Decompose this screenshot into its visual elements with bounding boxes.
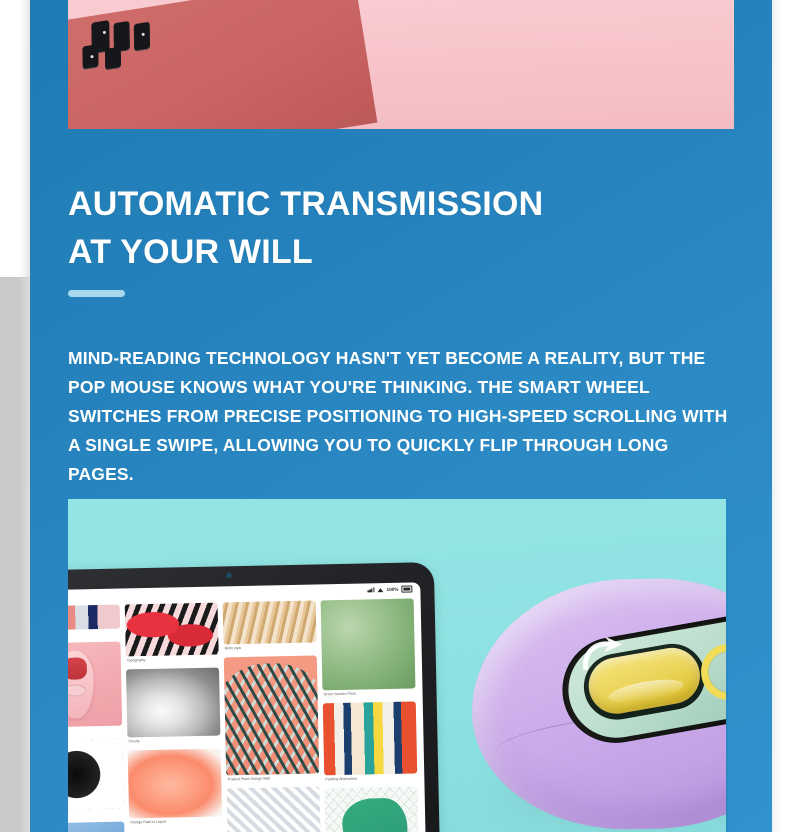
- moodboard-thumbnail[interactable]: [323, 701, 417, 775]
- moodboard-thumbnail[interactable]: [128, 749, 222, 819]
- page-title: AUTOMATIC TRANSMISSION AT YOUR WILL: [68, 180, 728, 276]
- moodboard-thumbnail[interactable]: [126, 668, 220, 738]
- pop-mouse-emoji-button[interactable]: [697, 639, 728, 704]
- moodboard-item[interactable]: Painting Abstraction: [323, 701, 418, 784]
- tablet-device: 100% PatternPink MouseGraphic FacadeTypo…: [68, 562, 440, 832]
- moodboard-grid: PatternPink MouseGraphic FacadeTypograph…: [68, 594, 422, 832]
- right-margin: [772, 0, 790, 832]
- battery-icon: [401, 585, 412, 592]
- front-camera-icon: [227, 573, 231, 577]
- moodboard-column: TypographyCloudsOrange Paint in Liquid: [125, 603, 224, 832]
- product-detail-page: AUTOMATIC TRANSMISSION AT YOUR WILL MIND…: [0, 0, 790, 832]
- left-gutter: [0, 0, 30, 832]
- moodboard-item[interactable]: Green Garden Plant: [321, 598, 416, 699]
- bottom-product-photo: 100% PatternPink MouseGraphic FacadeTypo…: [68, 499, 728, 832]
- moodboard-item[interactable]: Typography: [125, 603, 219, 666]
- blue-content-panel: AUTOMATIC TRANSMISSION AT YOUR WILL MIND…: [30, 0, 772, 832]
- moodboard-item[interactable]: Pattern: [68, 605, 120, 640]
- status-bar: 100%: [368, 585, 413, 592]
- moodboard-thumbnail[interactable]: [325, 786, 420, 832]
- top-product-photo: [68, 0, 734, 129]
- moodboard-thumbnail[interactable]: [227, 786, 321, 832]
- moodboard-item[interactable]: Graphic Facade: [68, 739, 124, 820]
- moodboard-item[interactable]: Pink Mouse: [68, 642, 122, 737]
- moodboard-thumbnail[interactable]: [68, 642, 122, 728]
- headline-line-2: AT YOUR WILL: [68, 228, 728, 276]
- signal-bars-icon: [368, 587, 375, 592]
- battery-percent-label: 100%: [387, 587, 399, 592]
- body-paragraph: MIND-READING TECHNOLOGY HASN'T YET BECOM…: [68, 344, 730, 489]
- moodboard-column: Boho styleTropical Plant Orange Wall: [223, 600, 322, 832]
- moodboard-thumbnail[interactable]: [68, 822, 125, 832]
- moodboard-thumbnail[interactable]: [321, 598, 416, 690]
- scroll-arrow-icon: [579, 635, 626, 676]
- moodboard-item[interactable]: Orange Paint in Liquid: [128, 749, 223, 828]
- moodboard-column: Green Garden PlantPainting Abstraction: [321, 598, 420, 832]
- photo-right-edge: [726, 499, 728, 832]
- moodboard-thumbnail[interactable]: [68, 605, 120, 631]
- moodboard-item[interactable]: [227, 786, 321, 832]
- gutter-gray-section: [0, 277, 30, 832]
- moodboard-item[interactable]: Tropical Plant Orange Wall: [224, 655, 320, 784]
- moodboard-thumbnail[interactable]: [68, 739, 124, 811]
- moodboard-item[interactable]: Clouds: [126, 668, 221, 747]
- moodboard-thumbnail[interactable]: [223, 600, 317, 644]
- moodboard-thumbnail[interactable]: [125, 603, 219, 657]
- moodboard-caption: Graphic Facade: [68, 809, 124, 820]
- gutter-white-section: [0, 0, 30, 277]
- wifi-icon: [378, 587, 384, 592]
- tablet-screen: 100% PatternPink MouseGraphic FacadeTypo…: [68, 582, 426, 832]
- moodboard-item[interactable]: [325, 786, 420, 832]
- accent-divider: [68, 290, 125, 297]
- moodboard-item[interactable]: Boho style: [223, 600, 317, 653]
- moodboard-caption: Pattern: [68, 629, 120, 640]
- pop-mouse: [470, 570, 728, 832]
- moodboard-item[interactable]: [68, 822, 125, 832]
- headline-line-1: AUTOMATIC TRANSMISSION: [68, 180, 728, 228]
- moodboard-thumbnail[interactable]: [224, 655, 319, 775]
- moodboard-caption: Pink Mouse: [68, 726, 122, 737]
- moodboard-column: PatternPink MouseGraphic Facade: [68, 605, 125, 832]
